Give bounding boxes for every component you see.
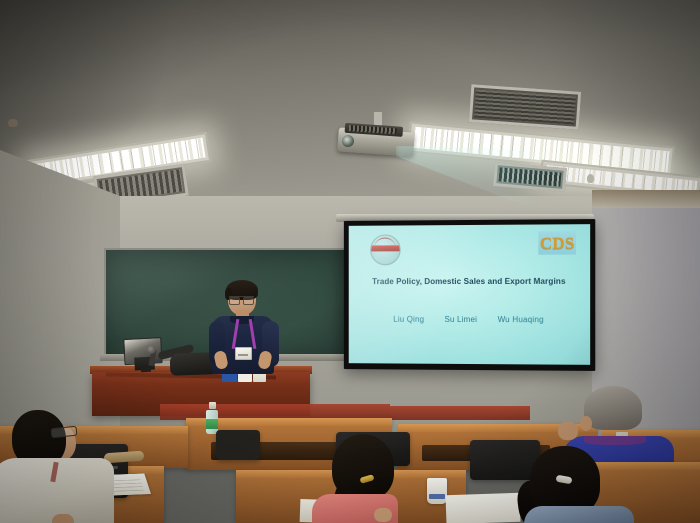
slide-authors: Liu Qing Su Limei Wu Huaqing xyxy=(349,315,590,325)
vent-louvers xyxy=(499,167,562,186)
microphone-head xyxy=(147,346,156,354)
person-hair xyxy=(332,434,394,500)
cds-logo-mark: CDS xyxy=(540,234,575,251)
slide-author-3: Wu Huaqing xyxy=(498,315,544,324)
chair-back-row[interactable] xyxy=(216,430,260,460)
projection-screen: CDS Trade Policy, Domestic Sales and Exp… xyxy=(344,219,595,371)
slide-surface: CDS Trade Policy, Domestic Sales and Exp… xyxy=(349,224,590,365)
presenter xyxy=(206,283,280,375)
person-hand xyxy=(558,422,578,440)
water-bottle-green-label[interactable] xyxy=(206,402,218,434)
audience-right-front xyxy=(520,446,642,523)
cds-logo: CDS xyxy=(538,231,576,254)
person-ear xyxy=(580,416,592,431)
bottle-cap xyxy=(209,402,216,409)
audience-center-ponytail xyxy=(318,434,424,523)
classroom-presentation-photo: CDS Trade Policy, Domestic Sales and Exp… xyxy=(0,0,700,523)
right-wall-trim xyxy=(592,190,700,208)
ceiling-fixture-small xyxy=(8,119,18,127)
name-badge xyxy=(235,347,252,360)
fire-sprinkler-head xyxy=(587,174,594,183)
person-hair xyxy=(584,386,642,430)
university-seal-logo xyxy=(370,234,400,265)
person-hand xyxy=(374,508,392,522)
vent-louvers xyxy=(474,90,576,125)
handout-sheet-right[interactable] xyxy=(446,493,521,523)
person-collar xyxy=(584,436,646,445)
person-torso xyxy=(524,506,634,523)
slide-author-1: Liu Qing xyxy=(393,315,424,324)
monitor-stand xyxy=(141,367,151,373)
bottle-label xyxy=(206,419,218,429)
audience-front-left xyxy=(0,404,122,523)
slide-author-2: Su Limei xyxy=(445,315,478,324)
seal-band xyxy=(370,245,400,251)
bench-seat-back-right xyxy=(390,406,530,420)
person-hand xyxy=(52,514,74,523)
ac-return-vent xyxy=(469,84,581,130)
glasses-icon xyxy=(229,296,254,303)
slide-title: Trade Policy, Domestic Sales and Export … xyxy=(349,277,590,286)
paper-cup[interactable] xyxy=(427,478,447,504)
